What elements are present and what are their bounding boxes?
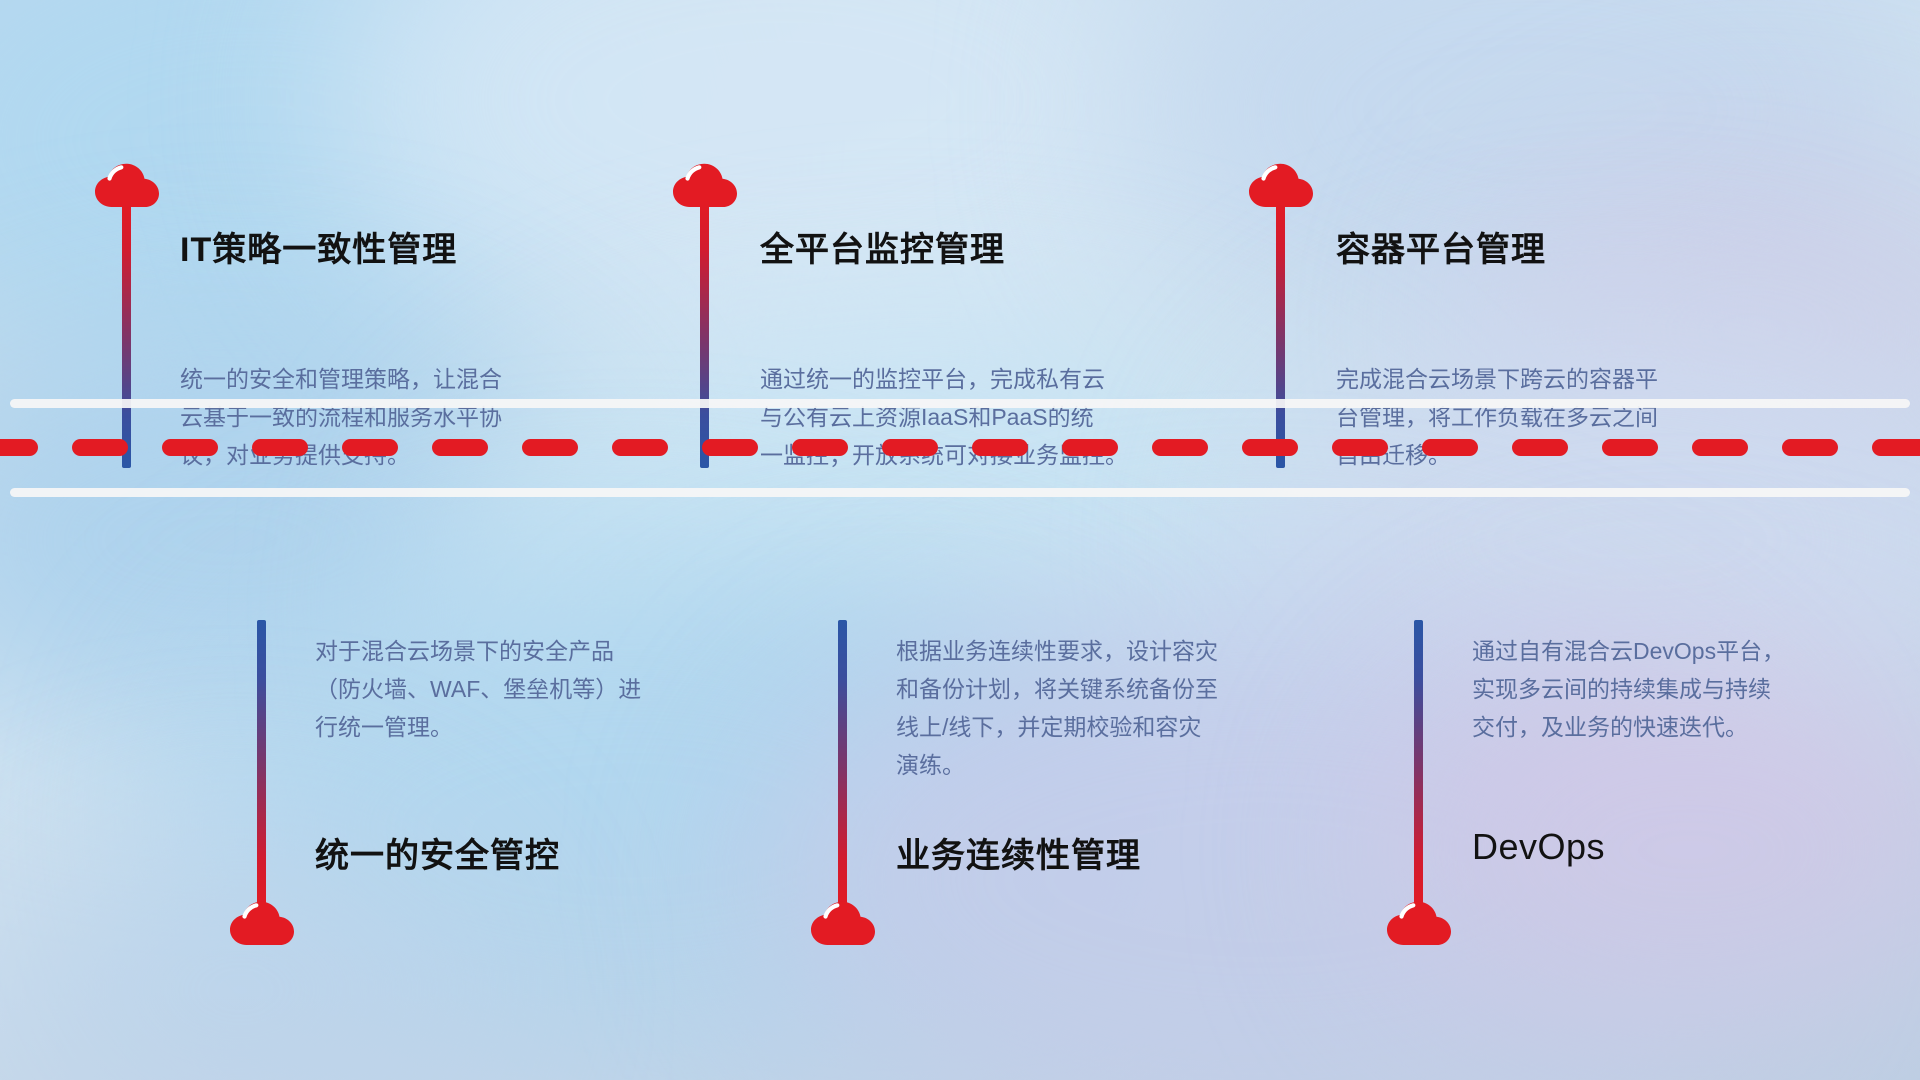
- bottom-item-body: 根据业务连续性要求，设计容灾 和备份计划，将关键系统备份至 线上/线下，并定期校…: [896, 632, 1316, 784]
- divider-band: [0, 399, 1920, 497]
- divider-dash-segment: [1782, 439, 1838, 456]
- divider-dash-segment: [342, 439, 398, 456]
- connector-line: [838, 620, 847, 912]
- connector-line: [1414, 620, 1423, 912]
- divider-dash-segment: [522, 439, 578, 456]
- cloud-icon: [229, 898, 295, 946]
- divider-dash-segment: [1692, 439, 1748, 456]
- bottom-item-body: 通过自有混合云DevOps平台， 实现多云间的持续集成与持续 交付，及业务的快速…: [1472, 632, 1892, 746]
- cloud-icon: [810, 898, 876, 946]
- divider-dash-segment: [1512, 439, 1568, 456]
- divider-dash-segment: [1872, 439, 1920, 456]
- divider-dash-segment: [702, 439, 758, 456]
- divider-dash-segment: [1332, 439, 1388, 456]
- connector-line: [257, 620, 266, 912]
- cloud-icon: [1386, 898, 1452, 946]
- bottom-item-title: 统一的安全管控: [315, 828, 560, 877]
- divider-dash-segment: [1062, 439, 1118, 456]
- divider-dash-segment: [612, 439, 668, 456]
- divider-dash-segment: [792, 439, 848, 456]
- divider-dash-segment: [972, 439, 1028, 456]
- divider-dash-segment: [162, 439, 218, 456]
- divider-rule-top: [10, 399, 1910, 408]
- divider-rule-bottom: [10, 488, 1910, 497]
- bottom-item-title: DevOps: [1472, 826, 1605, 868]
- divider-dash-segment: [1602, 439, 1658, 456]
- divider-dash-segment: [1152, 439, 1208, 456]
- divider-dash-segment: [882, 439, 938, 456]
- divider-dash-segment: [72, 439, 128, 456]
- bottom-item-title: 业务连续性管理: [896, 828, 1141, 877]
- divider-dash-segment: [1422, 439, 1478, 456]
- divider-dashed-line: [0, 439, 1920, 456]
- bottom-item-body: 对于混合云场景下的安全产品 （防火墙、WAF、堡垒机等）进 行统一管理。: [315, 632, 735, 746]
- top-item-title: IT策略一致性管理: [180, 222, 457, 271]
- top-item-title: 容器平台管理: [1336, 222, 1546, 271]
- divider-dash-segment: [1242, 439, 1298, 456]
- divider-dash-segment: [252, 439, 308, 456]
- divider-dash-segment: [0, 439, 38, 456]
- top-item-title: 全平台监控管理: [760, 222, 1005, 271]
- divider-dash-segment: [432, 439, 488, 456]
